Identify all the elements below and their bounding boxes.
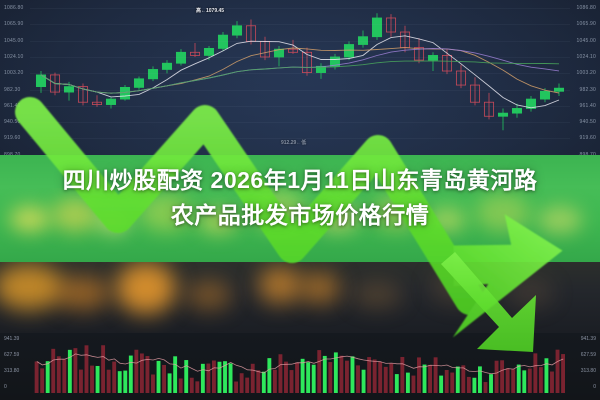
page-title: 四川炒股配资 2026年1月11日山东青岛黄河路 农产品批发市场价格行情	[0, 163, 600, 233]
title-line-2: 农产品批发市场价格行情	[0, 198, 600, 233]
title-line-1: 四川炒股配资 2026年1月11日山东青岛黄河路	[0, 163, 600, 198]
screenshot-root: 1086.801065.901045.001024.101003.20982.3…	[0, 0, 600, 400]
